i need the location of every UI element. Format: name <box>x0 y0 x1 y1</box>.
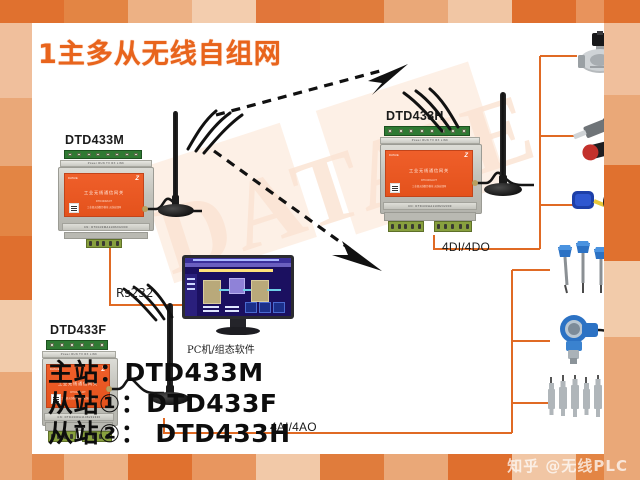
device-label-dtd433f: DTD433F <box>50 323 106 337</box>
border-tile <box>512 0 576 23</box>
border-tile <box>0 300 32 372</box>
border-tile <box>64 454 128 480</box>
terminal-block-bottom-left <box>388 221 424 232</box>
faceplate-brand-left: DATAIE <box>68 176 78 180</box>
border-tile <box>128 454 192 480</box>
border-tile <box>384 454 448 480</box>
device-foot <box>384 212 476 221</box>
radio-waves-slave-h <box>396 75 466 133</box>
peripheral-push-button-switch <box>570 109 604 167</box>
border-tile <box>604 95 640 165</box>
device-serial-bar: CN: DTD433MA1108232300 <box>62 223 150 231</box>
border-tile <box>604 165 640 261</box>
peripheral-level-sensor <box>546 241 604 297</box>
radio-waves-master <box>182 95 252 155</box>
border-top <box>0 0 640 23</box>
io-label-digital: 4DI/4DO <box>442 240 490 254</box>
status-strip: Power RUN TX RX LINK <box>42 351 116 358</box>
border-tile <box>64 0 128 23</box>
poster-title: 1主多从无线自组网 <box>38 32 282 71</box>
faceplate-brand-left: DATAIE <box>389 153 399 157</box>
device-foot <box>64 232 148 239</box>
pc-monitor[interactable] <box>182 255 294 335</box>
peripheral-pressure-sensor-array <box>546 375 604 423</box>
legend-slave-2: 从站②： DTD433H <box>48 419 291 450</box>
antenna-base-master <box>158 204 194 217</box>
pc-caption: PC机/组态软件 <box>187 341 255 356</box>
border-tile <box>604 0 640 23</box>
border-tile <box>256 454 320 480</box>
border-tile <box>320 0 384 23</box>
border-tile <box>192 454 256 480</box>
peripheral-solenoid-valve <box>572 31 604 79</box>
rs232-label: Rs232 <box>116 286 154 300</box>
border-tile <box>384 0 448 23</box>
device-label-dtd433m: DTD433M <box>65 133 124 147</box>
station-legend: 主站：DTD433M 从站①：DTD433F 从站②： DTD433H <box>48 358 291 450</box>
device-faceplate: DATAIE Z 工业无线通信网关 DTD433H-DT 工业级无线数传模块 无… <box>385 150 473 197</box>
peripheral-pressure-transmitter <box>548 313 604 367</box>
device-serial-bar: CN: DTD433HA1108232300 <box>383 202 477 210</box>
border-tile <box>448 0 512 23</box>
border-tile <box>604 23 640 95</box>
border-tile <box>192 0 256 23</box>
peripheral-float-switch <box>570 181 604 225</box>
border-right <box>604 0 640 480</box>
qr-code-icon <box>390 183 400 193</box>
legend-slave-1: 从站①：DTD433F <box>48 389 291 420</box>
terminal-block-top <box>64 150 142 159</box>
border-tile <box>448 454 512 480</box>
zhihu-watermark: 知乎 @无线PLC <box>507 455 628 476</box>
faceplate-title: 工业无线通信网关 <box>65 190 143 196</box>
terminal-block-top <box>46 340 108 350</box>
terminal-block-bottom <box>86 239 122 248</box>
status-strip: Power RUN TX RX LINK <box>60 160 152 167</box>
device-faceplate: DATAIE Z 工业无线通信网关 DTD433M-DT 工业级无线数传模块 无… <box>64 173 144 217</box>
border-tile <box>0 23 32 98</box>
border-left <box>0 0 32 480</box>
hmi-software-view <box>185 258 291 316</box>
border-tile <box>256 0 320 23</box>
antenna-base-slave-h <box>484 183 522 196</box>
faceplate-model: DTD433H-DT <box>386 179 472 182</box>
border-tile <box>604 261 640 337</box>
faceplate-logo: Z <box>135 176 139 182</box>
antenna-rod-slave-h <box>500 92 506 182</box>
monitor-stand-base <box>216 327 260 335</box>
faceplate-title: 工业无线通信网关 <box>386 168 472 174</box>
poster-root: DATAIE <box>0 0 640 480</box>
status-strip: Power RUN TX RX LINK <box>380 137 480 144</box>
faceplate-logo: Z <box>464 153 468 159</box>
border-tile <box>128 0 192 23</box>
border-tile <box>320 454 384 480</box>
qr-code-icon <box>69 203 79 213</box>
legend-master: 主站：DTD433M <box>48 358 291 389</box>
border-tile <box>0 236 32 300</box>
border-tile <box>0 0 32 23</box>
border-tile <box>0 166 32 236</box>
border-tile <box>0 372 32 480</box>
monitor-screen <box>185 258 291 316</box>
terminal-block-bottom-right <box>434 221 472 232</box>
border-tile <box>0 98 32 166</box>
antenna-rod-master <box>173 111 178 201</box>
